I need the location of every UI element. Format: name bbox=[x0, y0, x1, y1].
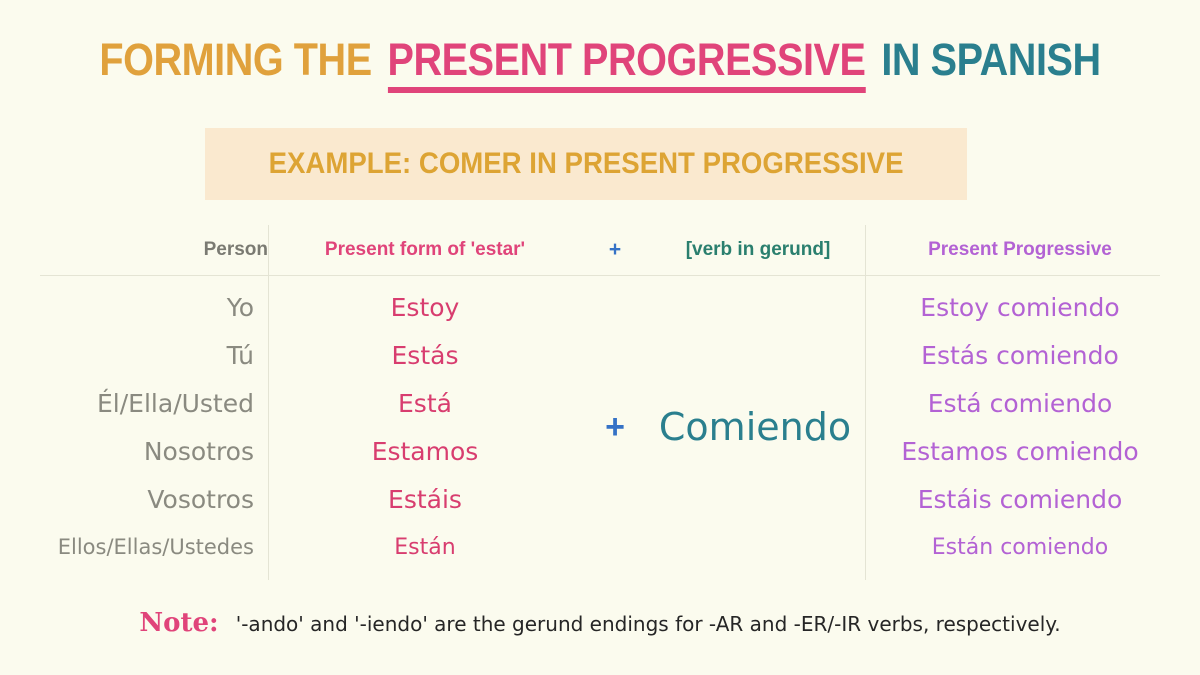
cell-estar: Estás bbox=[280, 331, 570, 379]
title-part-spanish: IN SPANISH bbox=[881, 34, 1100, 86]
cell-person: Ellos/Ellas/Ustedes bbox=[40, 523, 254, 571]
column-header-gerund: [verb in gerund] bbox=[652, 225, 864, 275]
cell-progressive: Está comiendo bbox=[880, 379, 1160, 427]
cell-person: Nosotros bbox=[40, 427, 254, 475]
gerund-value: Comiendo bbox=[645, 283, 865, 571]
cell-progressive: Estamos comiendo bbox=[880, 427, 1160, 475]
cell-progressive: Están comiendo bbox=[880, 523, 1160, 571]
cell-progressive: Estás comiendo bbox=[880, 331, 1160, 379]
column-header-person: Person bbox=[128, 225, 268, 275]
cell-estar: Estoy bbox=[280, 283, 570, 331]
note-label: Note: bbox=[139, 608, 218, 638]
cell-person: Yo bbox=[40, 283, 254, 331]
example-banner: EXAMPLE: COMER IN PRESENT PROGRESSIVE bbox=[205, 128, 967, 200]
example-banner-label: EXAMPLE: COMER IN PRESENT PROGRESSIVE bbox=[269, 147, 904, 181]
cell-estar: Están bbox=[280, 523, 570, 571]
cell-person: Él/Ella/Usted bbox=[40, 379, 254, 427]
title-part-highlight: PRESENT PROGRESSIVE bbox=[388, 34, 866, 93]
conjugation-table: Person Present form of 'estar' + [verb i… bbox=[40, 225, 1160, 580]
footer-note: Note: '-ando' and '-iendo' are the gerun… bbox=[0, 608, 1200, 638]
cell-estar: Estamos bbox=[280, 427, 570, 475]
cell-person: Vosotros bbox=[40, 475, 254, 523]
cell-estar: Está bbox=[280, 379, 570, 427]
title-part-forming: FORMING THE bbox=[99, 34, 371, 86]
note-text: '-ando' and '-iendo' are the gerund endi… bbox=[236, 612, 1061, 636]
plus-sign-icon: + bbox=[585, 283, 645, 571]
column-header-plus-icon: + bbox=[585, 225, 645, 275]
cell-person: Tú bbox=[40, 331, 254, 379]
cell-estar: Estáis bbox=[280, 475, 570, 523]
page-title: FORMING THE PRESENT PROGRESSIVE IN SPANI… bbox=[72, 34, 1128, 93]
column-header-estar: Present form of 'estar' bbox=[280, 225, 570, 275]
cell-progressive: Estoy comiendo bbox=[880, 283, 1160, 331]
cell-progressive: Estáis comiendo bbox=[880, 475, 1160, 523]
column-header-progressive: Present Progressive bbox=[880, 225, 1160, 275]
header-divider bbox=[40, 275, 1160, 276]
